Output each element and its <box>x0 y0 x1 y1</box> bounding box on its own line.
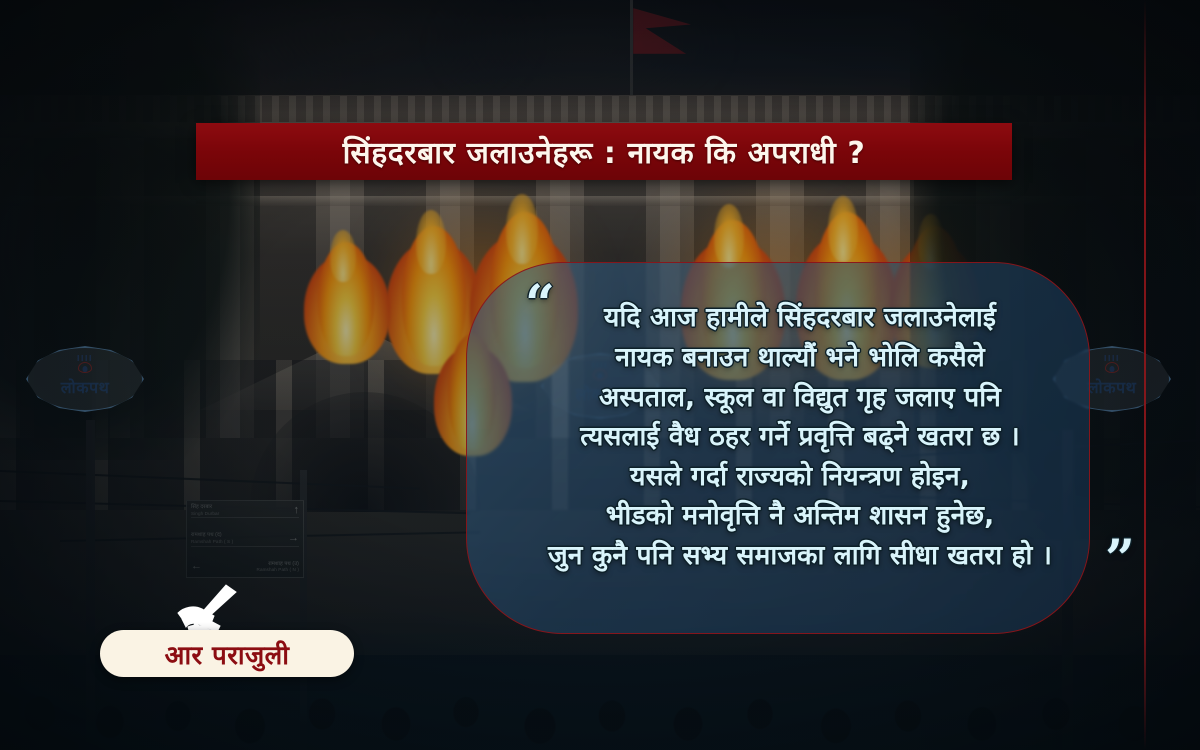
sign-row: सिंह दरबार Singh Durbar ↑ <box>191 504 299 518</box>
page-title: सिंहदरबार जलाउनेहरू : नायक कि अपराधी ? <box>343 131 866 172</box>
sign-row-label: सिंह दरबार Singh Durbar <box>191 504 219 516</box>
quote-line: नायक बनाउन थाल्यौं भने भोलि कसैले <box>615 339 985 377</box>
quote-line: यसले गर्दा राज्यको नियन्त्रण होइन, <box>630 458 970 496</box>
author-badge: आर पराजुली <box>100 630 354 677</box>
sign-row: ← रामशाह पथ (उ) Ramshah Path ( N ) <box>191 561 299 574</box>
title-banner: सिंहदरबार जलाउनेहरू : नायक कि अपराधी ? <box>196 123 1012 180</box>
arrow-left-icon: ← <box>191 561 202 572</box>
street-direction-sign: सिंह दरबार Singh Durbar ↑ रामशाह पथ (द) … <box>186 500 304 578</box>
watermark-text: लोकपथ <box>26 376 144 398</box>
eyelash-icon <box>76 355 94 361</box>
arrow-up-icon: ↑ <box>294 505 300 516</box>
quote-line: यदि आज हामीले सिंहदरबार जलाउनेलाई <box>604 299 996 337</box>
sign-row: रामशाह पथ (द) Ramshah Path ( S ) → <box>191 532 299 546</box>
quote-text-block: यदि आज हामीले सिंहदरबार जलाउनेलाई नायक ब… <box>470 272 1130 602</box>
watermark-lokpath-left: लोकपथ <box>26 346 144 412</box>
quote-line: भीडको मनोवृत्ति नै अन्तिम शासन हुनेछ, <box>606 497 995 535</box>
quote-close-mark: ” <box>1105 534 1135 586</box>
quote-line: अस्पताल, स्कूल वा विद्युत गृह जलाए पनि <box>599 379 1001 417</box>
arrow-right-icon: → <box>288 533 299 544</box>
author-name: आर पराजुली <box>165 636 290 672</box>
flame-cluster <box>300 236 396 366</box>
right-accent-line <box>1144 0 1146 750</box>
pupil-icon <box>83 366 88 372</box>
quote-line: त्यसलाई वैध ठहर गर्ने प्रवृत्ति बढ्ने खत… <box>580 418 1020 456</box>
sign-row-label: रामशाह पथ (उ) Ramshah Path ( N ) <box>257 561 299 573</box>
news-poster: सिंह दरबार Singh Durbar ↑ रामशाह पथ (द) … <box>0 0 1200 750</box>
quote-line: जुन कुनै पनि सभ्य समाजका लागि सीधा खतरा … <box>548 537 1052 575</box>
sign-row-label: रामशाह पथ (द) Ramshah Path ( S ) <box>191 532 233 544</box>
